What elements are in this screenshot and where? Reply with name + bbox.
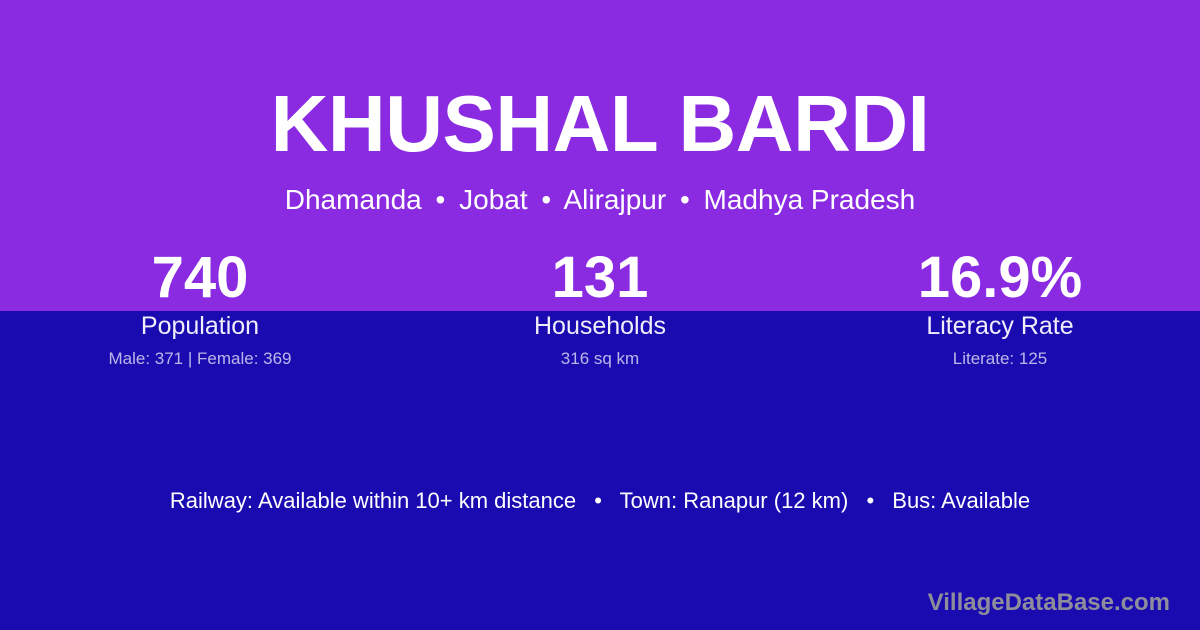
amenity-bus: Bus: Available	[892, 488, 1030, 513]
stat-population: 740 Population Male: 371 | Female: 369	[0, 247, 400, 369]
amenity-railway: Railway: Available within 10+ km distanc…	[170, 488, 576, 513]
stat-value: 740	[0, 247, 400, 309]
stat-subtext: Literate: 125	[800, 349, 1200, 369]
amenities-line: Railway: Available within 10+ km distanc…	[0, 487, 1200, 515]
stat-subtext: Male: 371 | Female: 369	[0, 349, 400, 369]
stat-value: 16.9%	[800, 247, 1200, 309]
page-title: KHUSHAL BARDI	[0, 0, 1200, 164]
amenity-separator-icon: •	[854, 488, 886, 513]
stat-label: Population	[0, 311, 400, 341]
amenity-town: Town: Ranapur (12 km)	[620, 488, 849, 513]
stats-row: 740 Population Male: 371 | Female: 369 1…	[0, 247, 1200, 369]
stat-value: 131	[400, 247, 800, 309]
breadcrumb-separator-icon: •	[535, 184, 557, 215]
breadcrumb-item-village: Dhamanda	[285, 184, 422, 215]
breadcrumb-item-state: Madhya Pradesh	[704, 184, 916, 215]
stat-label: Literacy Rate	[800, 311, 1200, 341]
site-branding: VillageDataBase.com	[928, 588, 1170, 618]
stat-households: 131 Households 316 sq km	[400, 247, 800, 369]
card-header: KHUSHAL BARDI Dhamanda • Jobat • Alirajp…	[0, 0, 1200, 214]
stat-label: Households	[400, 311, 800, 341]
breadcrumb-item-district: Alirajpur	[563, 184, 666, 215]
village-info-card: KHUSHAL BARDI Dhamanda • Jobat • Alirajp…	[0, 0, 1200, 630]
breadcrumb-item-block: Jobat	[459, 184, 528, 215]
breadcrumb: Dhamanda • Jobat • Alirajpur • Madhya Pr…	[0, 164, 1200, 214]
stat-subtext: 316 sq km	[400, 349, 800, 369]
stat-literacy-rate: 16.9% Literacy Rate Literate: 125	[800, 247, 1200, 369]
breadcrumb-separator-icon: •	[430, 184, 452, 215]
amenity-separator-icon: •	[582, 488, 614, 513]
breadcrumb-separator-icon: •	[674, 184, 696, 215]
